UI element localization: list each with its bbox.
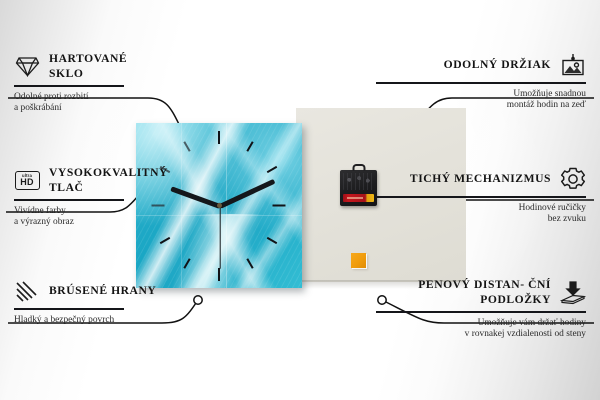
arrow-onto-layers-icon [560,280,586,306]
feature-high-quality-print: ultra HD VYSOKOKVALITNÝ TLAČ Vivídne far… [14,166,224,229]
feature-description: Odolné proti rozbití a poškrábání [14,92,224,115]
feature-description: Hodinové ručičky bez zvuku [376,203,586,226]
divider [14,199,124,201]
gear-icon [560,166,586,192]
feature-foam-spacer-pads: PENOVÝ DISTAN- ČNÍ PODLOŽKY Umožňuje vám… [376,278,586,341]
feature-description: Vivídne farby a výrazný obraz [14,206,224,229]
ground-edges-icon [14,278,40,304]
feature-title: HARTOVANÉ SKLO [49,52,164,81]
mechanism-hanger-hook [352,164,365,171]
divider [376,82,586,84]
feature-description: Hladký a bezpečný povrch [14,315,224,327]
feature-title: VYSOKOKVALITNÝ TLAČ [49,166,168,195]
divider [376,311,586,313]
divider [14,85,124,87]
divider [376,196,586,198]
divider [14,308,124,310]
feature-durable-holder: ODOLNÝ DRŽIAK Umožňuje snadnou montáž ho… [376,52,586,112]
mechanism-battery [343,194,374,202]
feature-title: BRÚSENÉ HRANY [49,284,156,299]
ultra-hd-bottom-label: HD [20,178,33,187]
feature-hardened-glass: HARTOVANÉ SKLO Odolné proti rozbití a po… [14,52,224,115]
feature-description: Umožňuje vám držať hodiny v rovnakej vzd… [376,318,586,341]
clock-tick-12 [218,131,220,144]
mechanism-housing-detail [343,173,374,190]
feature-title: ODOLNÝ DRŽIAK [444,58,551,73]
quartz-clock-mechanism [340,170,377,206]
infographic-canvas: HARTOVANÉ SKLO Odolné proti rozbití a po… [0,0,600,400]
feature-title: PENOVÝ DISTAN- ČNÍ PODLOŽKY [376,278,551,307]
diamond-icon [14,54,40,80]
feature-ground-edges: BRÚSENÉ HRANY Hladký a bezpečný povrch [14,278,224,326]
feature-silent-mechanism: TICHÝ MECHANIZMUS Hodinové ručičky bez z… [376,166,586,226]
picture-hanger-icon [560,52,586,78]
feature-description: Umožňuje snadnou montáž hodin na zeď [376,89,586,112]
ultra-hd-badge-icon: ultra HD [14,168,40,194]
clock-tick-3 [273,205,286,207]
feature-title: TICHÝ MECHANIZMUS [410,172,551,187]
foam-spacer-pad [351,253,366,268]
